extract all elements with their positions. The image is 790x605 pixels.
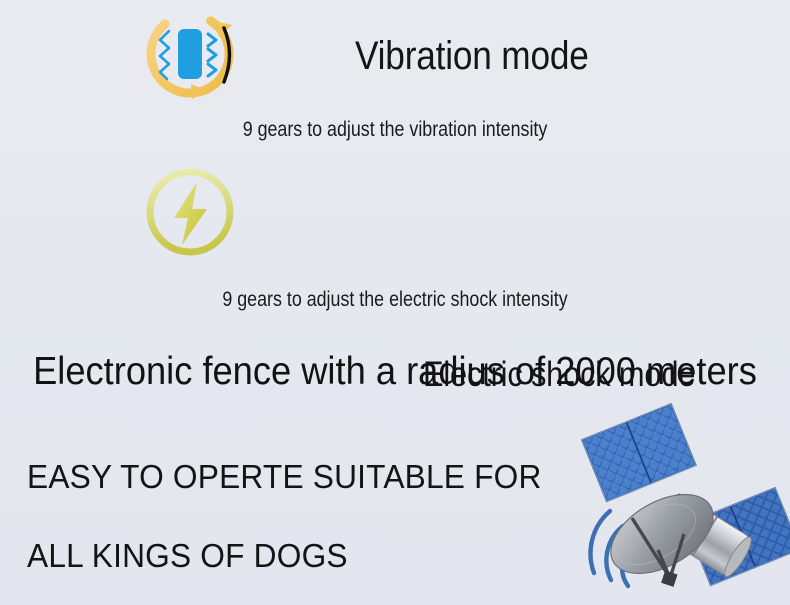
claim-line-all-kinds-of-dogs: ALL KINGS OF DOGS — [27, 537, 348, 575]
claim-line-easy-to-operate: EASY TO OPERTE SUITABLE FOR — [27, 458, 542, 496]
lightning-bolt-icon — [140, 162, 240, 262]
satellite-icon — [566, 438, 790, 605]
vibration-mode-title: Vibration mode — [355, 32, 589, 80]
vibration-phone-icon — [140, 4, 240, 104]
electric-shock-subtitle: 9 gears to adjust the electric shock int… — [59, 288, 731, 312]
electronic-fence-headline: Electronic fence with a radius of 2000 m… — [28, 350, 763, 394]
promo-banner: Vibration mode 9 gears to adjust the vib… — [0, 0, 790, 605]
vibration-subtitle: 9 gears to adjust the vibration intensit… — [59, 118, 731, 142]
